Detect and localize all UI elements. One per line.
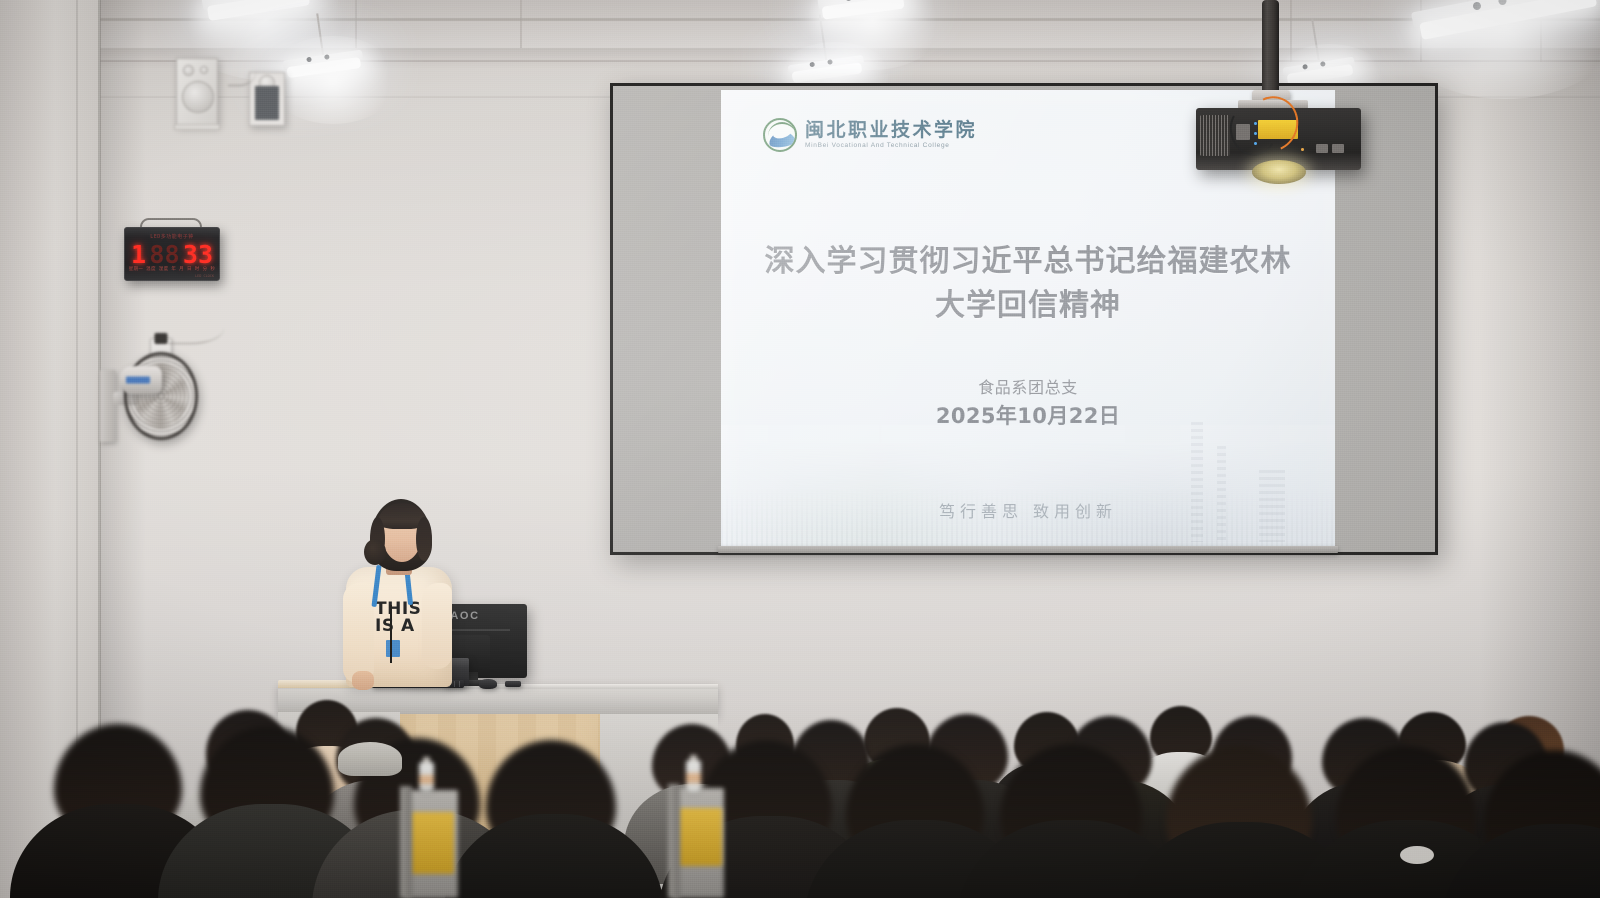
auditorium-seat-cushion (678, 808, 722, 866)
presenter-hair-bun (364, 539, 386, 565)
speaker-tweeter (183, 65, 194, 76)
bottle-cap (423, 757, 430, 763)
projector-mount-pipe (1262, 0, 1279, 96)
led-wall-clock: LED多功能电子钟 1 88 33 星期一 温度 湿度 年 月 日 时 分 秒 … (124, 227, 220, 281)
bottle-cap (690, 755, 697, 761)
lecture-hall-photo: LED多功能电子钟 1 88 33 星期一 温度 湿度 年 月 日 时 分 秒 … (0, 0, 1600, 898)
fan-motor-housing (120, 366, 162, 394)
water-bottle (419, 762, 434, 792)
clock-digit-right: 33 (183, 241, 213, 268)
clock-bottom-label: 星期一 温度 湿度 年 月 日 时 分 秒 (125, 266, 219, 272)
projector-vent (1200, 115, 1230, 156)
seat-post (400, 786, 412, 898)
slide-date: 2025年10月22日 (721, 403, 1335, 429)
presenter-shirt-text: THIS IS A (375, 601, 441, 635)
slide-logo: 闽北职业技术学院 MinBei Vocational And Technical… (763, 118, 977, 152)
slide-tower (1191, 422, 1203, 542)
logo-name-cn: 闽北职业技术学院 (805, 121, 977, 141)
ceiling-panel-seam (520, 0, 522, 48)
bottle-label (419, 775, 434, 784)
hair-scrunchie (1400, 846, 1434, 864)
slide-title: 深入学习贯彻习近平总书记给福建农林 大学回信精神 (721, 240, 1335, 328)
clock-digit-left: 1 (131, 241, 146, 268)
projector-port (1332, 144, 1344, 153)
speaker-base (174, 124, 220, 130)
projector-led (1301, 148, 1304, 151)
slide-tower (1217, 446, 1226, 542)
logo-name-en: MinBei Vocational And Technical College (805, 142, 977, 149)
audience-cap (338, 742, 402, 776)
slide-motto: 笃行善思 致用创新 (721, 498, 1335, 522)
wall-speaker-dark (249, 72, 285, 126)
speaker-tweeter (200, 66, 208, 74)
projector-port (1316, 144, 1328, 153)
college-seal-icon (763, 118, 797, 152)
water-bottle (686, 760, 701, 792)
clock-digit-group: 1 88 33 (125, 241, 219, 268)
wall-speaker-white (176, 58, 218, 126)
light-tube (207, 0, 310, 21)
bottle-label (686, 773, 701, 783)
presenter-side-hair-right (416, 517, 432, 561)
slide-subtitle: 食品系团总支 (721, 373, 1335, 403)
audience-area (0, 638, 1600, 898)
speaker-woofer (182, 81, 214, 113)
speaker-grille (255, 86, 279, 120)
projector-lens (1252, 160, 1306, 184)
clock-brand-label: LED CLOCK (195, 274, 214, 278)
fan-brand-label (126, 377, 150, 384)
auditorium-seat-cushion (410, 812, 454, 874)
fan-wall-bracket (100, 370, 116, 442)
seat-post (668, 784, 680, 898)
clock-digit-middle: 88 (149, 241, 179, 268)
plug (155, 333, 168, 344)
ceiling-panel-seam (1290, 0, 1292, 62)
logo-wordmark: 闽北职业技术学院 MinBei Vocational And Technical… (805, 121, 977, 150)
shirt-text-line2: IS A (375, 618, 441, 635)
screen-roller-bar (718, 546, 1338, 553)
clock-top-label: LED多功能电子钟 (125, 233, 219, 240)
ceiling-panel-seam (355, 0, 357, 48)
